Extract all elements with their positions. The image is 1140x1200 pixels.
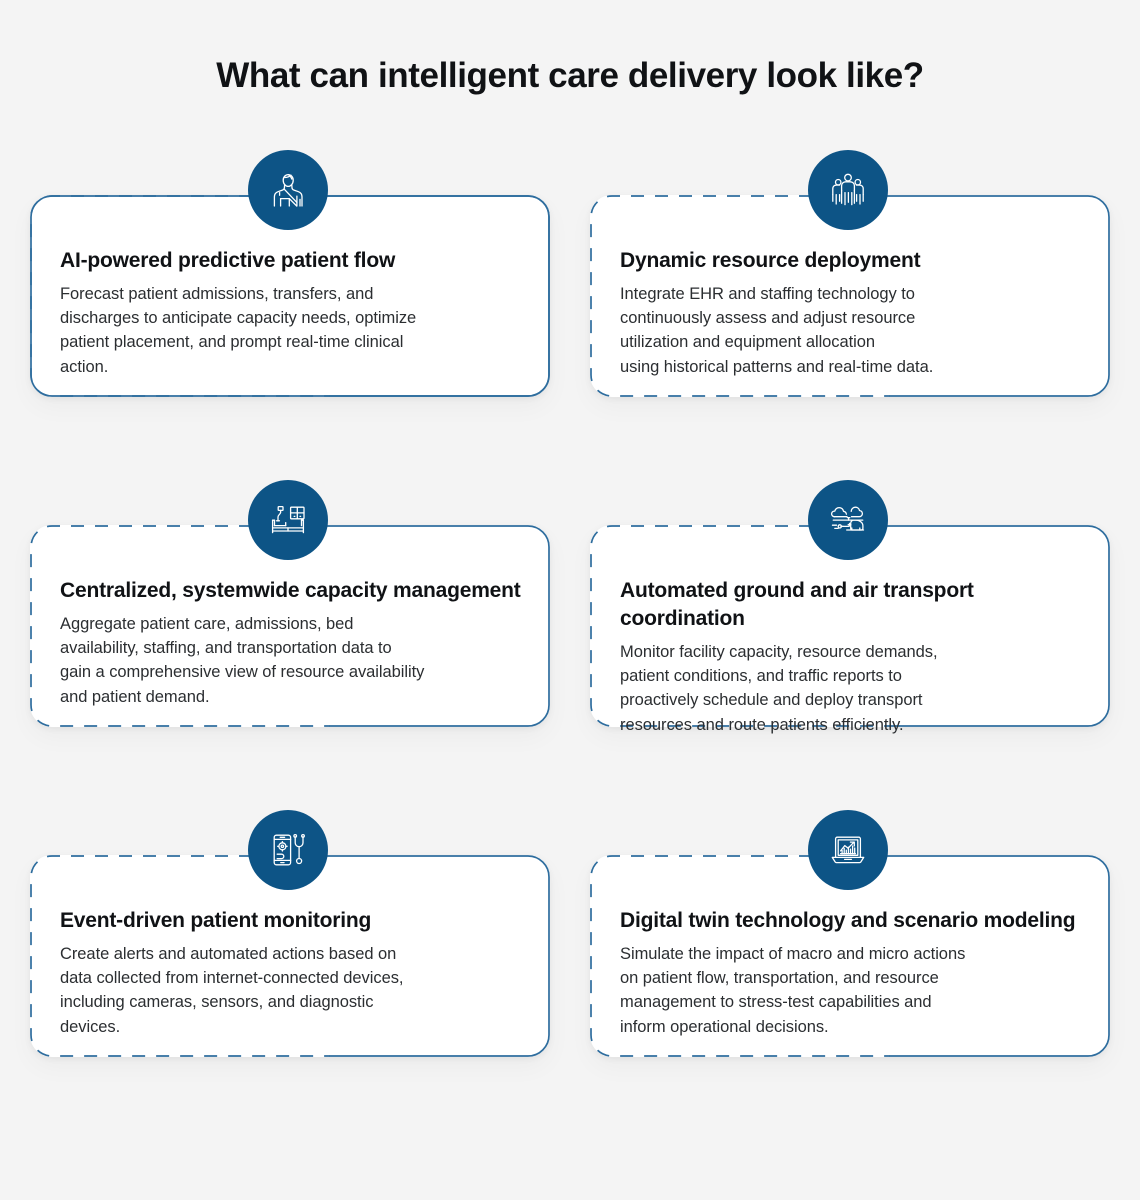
card-ai-powered-predictive-patient-flow[interactable]: AI-powered predictive patient flow Forec… [30,150,550,397]
card-automated-ground-and-air-transport-coordination[interactable]: Automated ground and air transport coord… [590,480,1110,727]
infographic-page: What can intelligent care delivery look … [0,0,1140,1200]
card-centralized-systemwide-capacity-management[interactable]: Centralized, systemwide capacity managem… [30,480,550,727]
card-digital-twin-technology-and-scenario-modeling[interactable]: Digital twin technology and scenario mod… [590,810,1110,1057]
card-description: Create alerts and automated actions base… [60,942,526,1039]
card-title: Dynamic resource deployment [620,247,1086,275]
card-grid: AI-powered predictive patient flow Forec… [30,150,1110,1057]
card-dynamic-resource-deployment[interactable]: Dynamic resource deployment Integrate EH… [590,150,1110,397]
people-group-icon [808,150,888,230]
card-description: Integrate EHR and staffing technology to… [620,282,1086,379]
card-title: AI-powered predictive patient flow [60,247,526,275]
card-description: Simulate the impact of macro and micro a… [620,942,1086,1039]
card-title: Digital twin technology and scenario mod… [620,907,1086,935]
laptop-growth-chart-icon [808,810,888,890]
medical-helicopter-icon [808,480,888,560]
card-title: Centralized, systemwide capacity managem… [60,577,526,605]
page-title: What can intelligent care delivery look … [0,56,1140,96]
card-event-driven-patient-monitoring[interactable]: Event-driven patient monitoring Create a… [30,810,550,1057]
card-title: Event-driven patient monitoring [60,907,526,935]
card-description: Forecast patient admissions, transfers, … [60,282,526,379]
hospital-bed-icon [248,480,328,560]
card-title: Automated ground and air transport coord… [620,577,1086,633]
injured-patient-icon [248,150,328,230]
card-description: Aggregate patient care, admissions, bed … [60,612,526,709]
mobile-stethoscope-icon [248,810,328,890]
card-description: Monitor facility capacity, resource dema… [620,640,1086,737]
